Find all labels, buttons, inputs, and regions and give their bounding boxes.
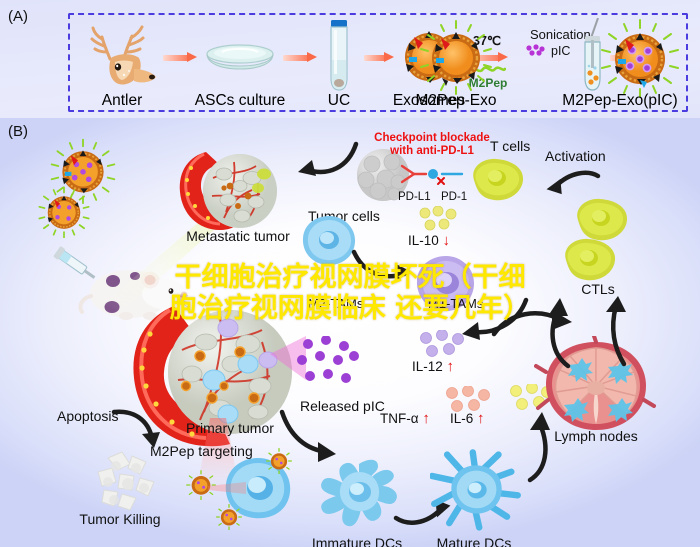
- pic-particle-cluster-icon: [525, 44, 547, 56]
- t-cells-label: T cells: [490, 138, 530, 154]
- arrow-m2-to-m1-polarization: [350, 248, 416, 286]
- checkpoint-blockade-line1: Checkpoint blockade: [374, 132, 490, 145]
- t-cell-illustration: [466, 156, 528, 204]
- nanoparticle-injected-2: [38, 186, 90, 238]
- il6-arrow: ↑: [477, 410, 485, 427]
- process-arrow-2: [283, 52, 317, 63]
- nanoparticle-targeting-3: [216, 504, 242, 530]
- apoptosis-label: Apoptosis: [57, 408, 118, 424]
- checkpoint-blockade-line2: with anti-PD-L1: [390, 145, 474, 158]
- ctls-label: CTLs: [581, 281, 614, 297]
- activation-label: Activation: [545, 148, 606, 164]
- antler-deer-illustration: [84, 25, 160, 87]
- immature-dc-cell: [316, 454, 402, 534]
- petri-dish-icon: [204, 42, 276, 72]
- panel-b: (B): [0, 118, 700, 547]
- panel-b-letter: (B): [8, 123, 28, 140]
- tnf-alpha-arrow: ↑: [422, 410, 430, 427]
- il10-cytokine-dots: [418, 206, 460, 234]
- tumor-killing-label: Tumor Killing: [79, 511, 160, 527]
- il12-arrow: ↑: [447, 358, 455, 375]
- arrow-il12-to-ctls: [448, 296, 532, 346]
- process-arrow-1: [163, 52, 197, 63]
- panel-a-letter: (A): [8, 8, 28, 25]
- primary-tumor-label: Primary tumor: [186, 420, 274, 436]
- il6-cytokine-label: IL-6 ↑: [450, 410, 485, 427]
- label-uc: UC: [328, 92, 350, 110]
- centrifuge-tube-icon: [326, 20, 352, 92]
- il12-cytokine-label: IL-12 ↑: [412, 358, 454, 375]
- exosome-particle-m2pep: [418, 20, 494, 96]
- panel-a: (A): [0, 0, 700, 118]
- label-m2pep-exo: M2Pep-Exo: [416, 92, 497, 110]
- il12-name: IL-12: [412, 359, 443, 374]
- ctl-cell-2: [558, 236, 620, 284]
- pd-l1-label: PD-L1: [398, 191, 431, 203]
- tnf-alpha-cytokine-label: TNF-α ↑: [380, 410, 430, 427]
- exosome-particle-m2pep-pic: [600, 18, 680, 98]
- immature-dcs-label: Immature DCs: [312, 535, 402, 547]
- label-m2pep-exo-pic: M2Pep-Exo(pIC): [562, 92, 677, 110]
- dying-tumor-cell-cluster: [88, 448, 166, 518]
- scientific-figure: (A): [0, 0, 700, 547]
- arrow-lymph-to-ctl-1: [524, 298, 586, 370]
- arrow-lymph-to-ctl-2: [590, 296, 646, 368]
- targeting-connector-beam: [206, 478, 250, 498]
- arrow-to-metastatic-tumor: [290, 140, 360, 182]
- il10-arrow: ↓: [443, 232, 451, 249]
- process-arrow-3: [364, 52, 394, 63]
- lymph-nodes-label: Lymph nodes: [554, 428, 638, 444]
- released-pic-particles: [296, 336, 362, 394]
- label-ascs-culture: ASCs culture: [195, 92, 285, 110]
- pic-label: pIC: [551, 44, 570, 58]
- metastatic-tumor-label: Metastatic tumor: [186, 228, 289, 244]
- label-antler: Antler: [102, 92, 143, 110]
- mature-dcs-label: Mature DCs: [437, 535, 512, 547]
- mature-dc-cell: [430, 448, 522, 534]
- m2-tams-label: M2-TAMs: [308, 296, 363, 311]
- il10-name: IL-10: [408, 233, 439, 248]
- pd-1-label: PD-1: [441, 191, 467, 203]
- il6-name: IL-6: [450, 411, 473, 426]
- il10-cytokine-label: IL-10 ↓: [408, 232, 450, 249]
- tnf-alpha-name: TNF-α: [380, 411, 419, 426]
